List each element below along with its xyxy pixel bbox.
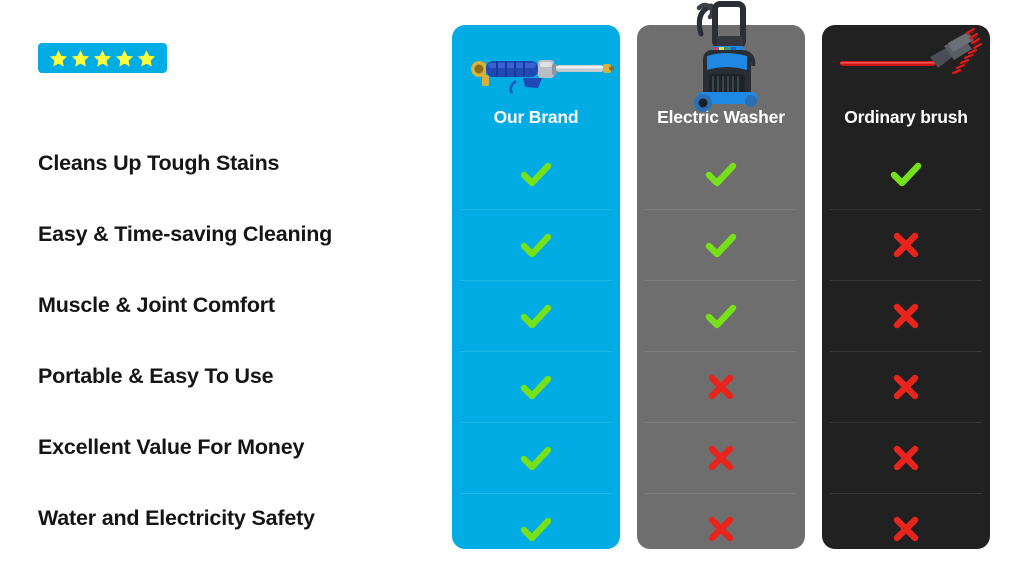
feature-label: Muscle & Joint Comfort [38, 294, 275, 318]
comparison-column-electric-washer[interactable]: Electric Washer [637, 25, 805, 549]
mark-cell [637, 138, 805, 209]
mark-cell [637, 209, 805, 280]
star-icon [137, 49, 156, 68]
mark-cell [452, 280, 620, 351]
check-icon [514, 294, 558, 338]
check-icon [514, 436, 558, 480]
mark-cell [637, 351, 805, 422]
star-icon [71, 49, 90, 68]
cross-icon [886, 509, 926, 549]
comparison-column-our-brand[interactable]: Our Brand [452, 25, 620, 549]
mark-cell [637, 422, 805, 493]
mark-cell [822, 351, 990, 422]
check-icon [514, 152, 558, 196]
feature-label: Portable & Easy To Use [38, 365, 273, 389]
mark-cell [822, 422, 990, 493]
check-icon [699, 152, 743, 196]
cross-icon [886, 225, 926, 265]
column-title: Our Brand [452, 107, 620, 128]
check-icon [514, 507, 558, 550]
feature-label: Water and Electricity Safety [38, 507, 315, 531]
mark-cell [822, 209, 990, 280]
feature-label: Cleans Up Tough Stains [38, 152, 279, 176]
column-title: Electric Washer [637, 107, 805, 128]
star-icon [93, 49, 112, 68]
cross-icon [886, 438, 926, 478]
mark-cell [637, 280, 805, 351]
mark-cell [637, 493, 805, 549]
pressure-water-gun-wand-image [452, 35, 620, 105]
feature-row: Water and Electricity Safety [38, 483, 438, 554]
star-icon [115, 49, 134, 68]
cross-icon [701, 509, 741, 549]
feature-row: Easy & Time-saving Cleaning [38, 199, 438, 270]
feature-label: Easy & Time-saving Cleaning [38, 223, 332, 247]
mark-cell [452, 138, 620, 209]
feature-row: Cleans Up Tough Stains [38, 128, 438, 199]
check-icon [699, 294, 743, 338]
column-title: Ordinary brush [822, 107, 990, 128]
check-icon [514, 223, 558, 267]
feature-row: Excellent Value For Money [38, 412, 438, 483]
feature-row: Muscle & Joint Comfort [38, 270, 438, 341]
check-icon [699, 223, 743, 267]
check-icon [884, 152, 928, 196]
mark-cell [452, 493, 620, 549]
cross-icon [886, 296, 926, 336]
push-broom-brush-image [822, 27, 990, 105]
check-icon [514, 365, 558, 409]
cross-icon [886, 367, 926, 407]
card-header: Our Brand [452, 25, 620, 138]
card-header: Ordinary brush [822, 25, 990, 138]
mark-cell [452, 422, 620, 493]
mark-cell [822, 493, 990, 549]
mark-cell [822, 280, 990, 351]
mark-cell [452, 351, 620, 422]
feature-row: Portable & Easy To Use [38, 341, 438, 412]
mark-cell [452, 209, 620, 280]
cross-icon [701, 367, 741, 407]
comparison-columns: Our Brand Electric Washer [452, 25, 990, 549]
rating-badge [38, 43, 167, 73]
feature-label: Excellent Value For Money [38, 436, 304, 460]
mark-cell [822, 138, 990, 209]
star-icon [49, 49, 68, 68]
comparison-column-ordinary-brush[interactable]: Ordinary brush [822, 25, 990, 549]
feature-list: Cleans Up Tough Stains Easy & Time-savin… [38, 128, 438, 554]
cross-icon [701, 438, 741, 478]
card-header: Electric Washer [637, 25, 805, 138]
